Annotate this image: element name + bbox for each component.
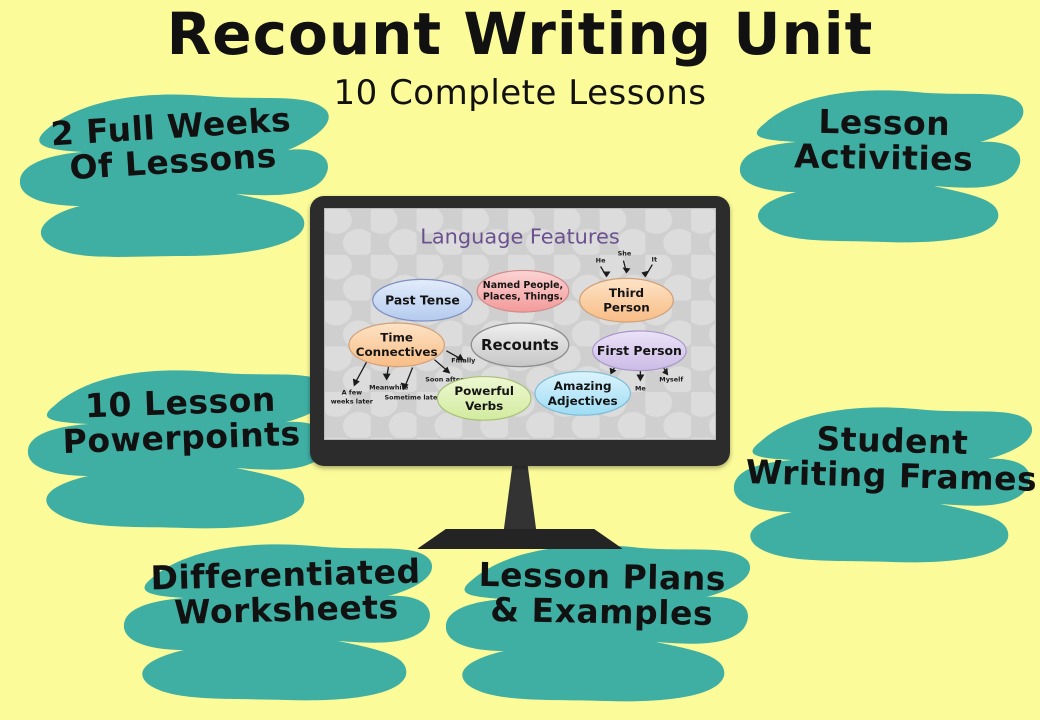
child-label-he: He (596, 257, 606, 265)
arrowheads-third-person (603, 267, 650, 277)
poster-canvas: Recount Writing Unit 10 Complete Lessons… (0, 0, 1040, 720)
feature-label-worksheets: Differentiated Worksheets (125, 554, 447, 632)
feature-label-lesson-plans: Lesson Plans & Examples (451, 557, 752, 632)
node-label-first-person: First Person (597, 343, 682, 358)
child-label-myself: Myself (659, 376, 683, 384)
node-label-amazing-adjectives-line2: Adjectives (548, 394, 618, 408)
node-label-recounts: Recounts (481, 336, 559, 354)
node-label-third-person-line2: Person (603, 301, 650, 315)
node-label-time-connectives-line2: Connectives (356, 345, 438, 359)
child-label-a-few-weeks-later-line1: A few (342, 388, 362, 396)
node-label-time-connectives-line1: Time (380, 330, 413, 344)
node-label-third-person-line1: Third (609, 286, 644, 300)
node-label-amazing-adjectives-line1: Amazing (554, 379, 612, 393)
child-label-it: It (652, 256, 657, 264)
node-label-named-people-line1: Named People, (483, 280, 563, 291)
node-label-powerful-verbs-line1: Powerful (454, 384, 514, 398)
slide-title: Language Features (420, 225, 619, 249)
language-features-diagram: Language Features (325, 209, 715, 439)
feature-label-activities: Lesson Activities (743, 104, 1024, 178)
child-label-a-few-weeks-later-line2: weeks later (331, 397, 374, 405)
child-label-me: Me (635, 384, 646, 392)
child-label-meanwhile: Meanwhile (369, 383, 409, 391)
monitor-base (417, 529, 623, 549)
child-label-sometime-later: Sometime later (385, 393, 442, 401)
page-title: Recount Writing Unit (0, 4, 1040, 65)
child-label-she: She (618, 250, 632, 258)
child-label-finally: Finally (451, 357, 476, 365)
monitor-screen: Language Features (324, 208, 716, 440)
node-label-named-people-line2: Places, Things. (483, 292, 563, 303)
feature-label-powerpoints: 10 Lesson Powerpoints (35, 381, 327, 460)
feature-label-writing-frames: Student Writing Frames (741, 420, 1040, 497)
monitor-neck (503, 464, 537, 536)
node-label-past-tense: Past Tense (385, 293, 460, 308)
computer-monitor: Language Features (310, 196, 730, 466)
node-label-powerful-verbs-line2: Verbs (465, 399, 503, 413)
